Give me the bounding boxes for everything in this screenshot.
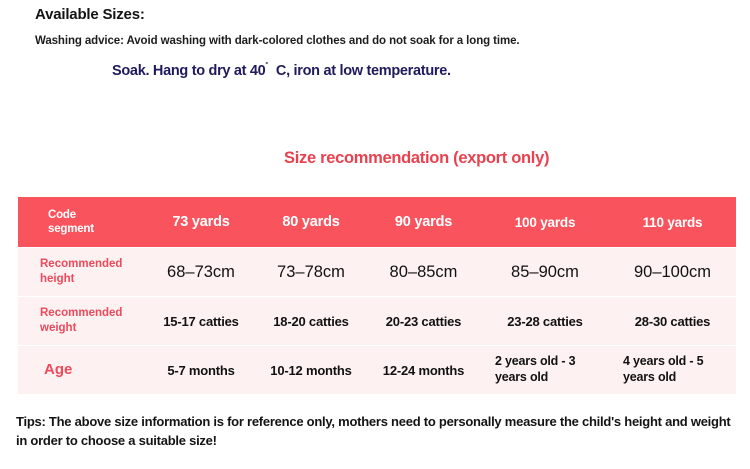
table-header-col-73: 73 yards	[146, 197, 256, 248]
cell-age-90: 12-24 months	[366, 346, 481, 395]
cell-age-100: 2 years old - 3 years old	[481, 346, 609, 395]
cell-age-80: 10-12 months	[256, 346, 366, 395]
row-label-age: Age	[18, 346, 146, 395]
row-label-line2: height	[40, 272, 146, 287]
table-row: Recommended weight 15-17 catties 18-20 c…	[18, 297, 736, 346]
care-instruction-suffix: C, iron at low temperature.	[276, 63, 451, 79]
table-header-code-segment: Code segment	[18, 197, 146, 248]
row-label-line1: Recommended	[40, 306, 146, 321]
row-label-recommended-height: Recommended height	[18, 248, 146, 297]
row-label-line2: weight	[40, 321, 146, 336]
code-segment-line1: Code	[48, 208, 146, 222]
washing-advice-text: Washing advice: Avoid washing with dark-…	[35, 35, 519, 47]
size-recommendation-title: Size recommendation (export only)	[284, 149, 549, 168]
cell-height-110: 90–100cm	[609, 248, 736, 297]
table-header-row: Code segment 73 yards 80 yards 90 yards …	[18, 197, 736, 248]
size-table: Code segment 73 yards 80 yards 90 yards …	[18, 197, 736, 395]
table-row: Recommended height 68–73cm 73–78cm 80–85…	[18, 248, 736, 297]
table-header-col-80: 80 yards	[256, 197, 366, 248]
cell-height-100: 85–90cm	[481, 248, 609, 297]
row-label-recommended-weight: Recommended weight	[18, 297, 146, 346]
row-label-line1: Age	[44, 360, 146, 380]
care-instruction-text: Soak. Hang to dry at 40˚ C, iron at low …	[112, 61, 451, 79]
table-row: Age 5-7 months 10-12 months 12-24 months…	[18, 346, 736, 395]
care-instruction-prefix: Soak. Hang to dry at 40	[112, 63, 265, 79]
size-chart-page: Available Sizes: Washing advice: Avoid w…	[0, 0, 750, 469]
degree-symbol: ˚	[265, 61, 268, 71]
table-header-col-110: 110 yards	[609, 197, 736, 248]
row-label-line1: Recommended	[40, 257, 146, 272]
cell-height-73: 68–73cm	[146, 248, 256, 297]
code-segment-line2: segment	[48, 222, 146, 236]
page-title: Available Sizes:	[35, 6, 145, 23]
cell-weight-100: 23-28 catties	[481, 297, 609, 346]
cell-height-90: 80–85cm	[366, 248, 481, 297]
cell-weight-90: 20-23 catties	[366, 297, 481, 346]
cell-weight-73: 15-17 catties	[146, 297, 256, 346]
cell-age-110: 4 years old - 5 years old	[609, 346, 736, 395]
cell-age-73: 5-7 months	[146, 346, 256, 395]
cell-weight-110: 28-30 catties	[609, 297, 736, 346]
table-header-col-100: 100 yards	[481, 197, 609, 248]
cell-weight-80: 18-20 catties	[256, 297, 366, 346]
table-header-col-90: 90 yards	[366, 197, 481, 248]
cell-height-80: 73–78cm	[256, 248, 366, 297]
tips-text: Tips: The above size information is for …	[16, 413, 732, 451]
